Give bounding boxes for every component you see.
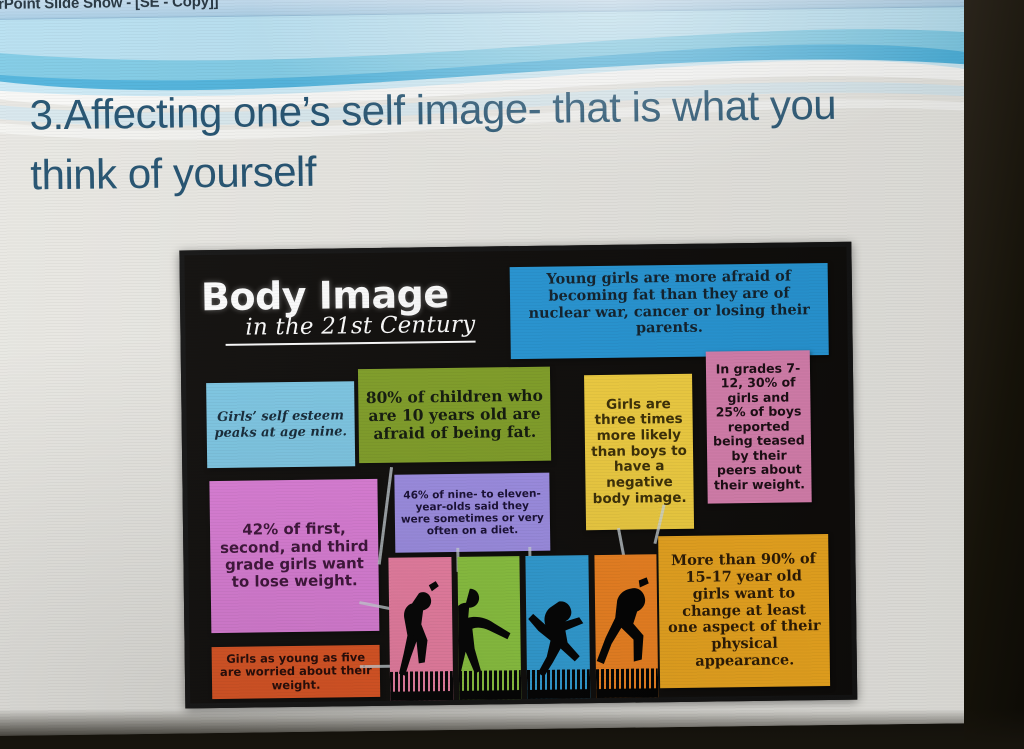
connector-wire — [378, 467, 393, 565]
stat-card-green: 80% of children who are 10 years old are… — [358, 367, 551, 464]
photo-panel-green — [457, 556, 521, 705]
stat-card-orange: More than 90% of 15-17 year old girls wa… — [658, 534, 830, 688]
powerpoint-slide: 3.Affecting one’s self image- that is wh… — [0, 5, 1006, 736]
stat-card-pink: In grades 7-12, 30% of girls and 25% of … — [706, 350, 812, 503]
photo-panel-pink — [388, 557, 452, 706]
grass-base — [596, 688, 659, 703]
window-title-text: rPoint Slide Show - [SE - Copy]] — [0, 0, 218, 13]
stat-card-blue: Young girls are more afraid of becoming … — [510, 263, 829, 359]
silhouette-photo-strip — [388, 554, 658, 705]
poster-heading-underline — [226, 341, 476, 346]
stat-card-magenta: 42% of first, second, and third grade gi… — [209, 479, 379, 633]
stat-card-light-blue: Girls’ self esteem peaks at age nine. — [206, 381, 355, 468]
photo-panel-blue — [525, 555, 589, 704]
monitor-screen: 3.Affecting one’s self image- that is wh… — [0, 0, 1006, 736]
monitor-bezel-right — [964, 0, 1024, 749]
poster-heading-sub: in the 21st Century — [201, 311, 491, 341]
stat-card-yellow: Girls are three times more likely than b… — [584, 374, 694, 530]
grass-base — [390, 691, 453, 706]
stat-card-red-orange: Girls as young as five are worried about… — [212, 645, 381, 699]
body-image-infographic: Body Image in the 21st Century Young gir… — [179, 242, 857, 709]
page-title: 3.Affecting one’s self image- that is wh… — [29, 74, 930, 205]
grass-base — [527, 689, 590, 704]
stat-card-lavender: 46% of nine- to eleven-year-olds said th… — [394, 473, 550, 553]
grass-base — [459, 690, 522, 705]
monitor-bezel-bottom — [0, 709, 1024, 749]
photographed-screen-scene: 3.Affecting one’s self image- that is wh… — [0, 0, 1024, 749]
photo-panel-orange — [594, 554, 658, 703]
poster-heading: Body Image in the 21st Century — [201, 271, 492, 346]
